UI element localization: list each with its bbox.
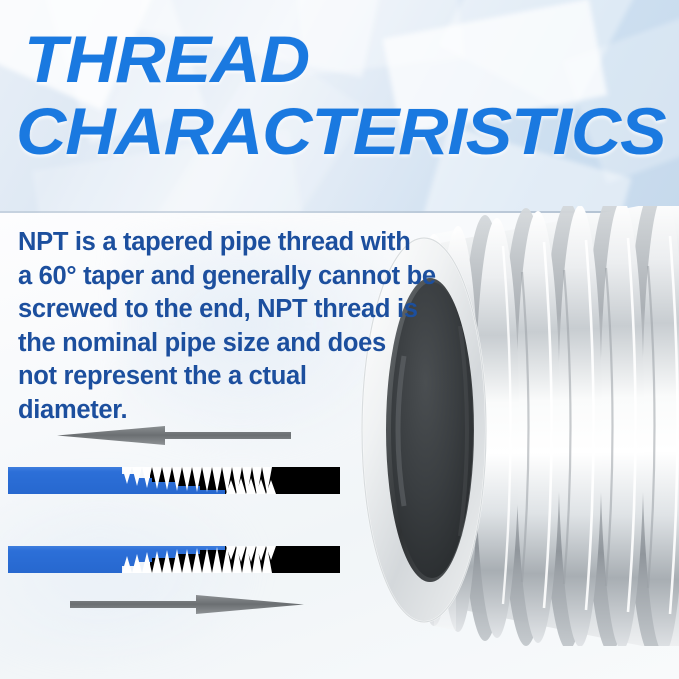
thread-bar-tightened [8,544,340,573]
title-line-thread: THREAD [24,22,309,96]
thread-bar-start [8,467,340,496]
description-line-5: not represent the a ctual [18,360,378,394]
description-line-2: a 60° taper and generally cannot be [18,260,378,294]
arrow-left-icon [57,426,291,445]
description-line-1: NPT is a tapered pipe thread with [18,226,378,260]
description-paragraph: NPT is a tapered pipe thread with a 60° … [18,226,378,427]
arrow-right-icon [70,595,304,614]
description-line-3: screwed to the end, NPT thread is [18,293,378,327]
thread-characteristics-infographic: THREAD CHARACTERISTICS [0,0,679,679]
page-title: THREAD CHARACTERISTICS [0,0,679,213]
title-line-characteristics: CHARACTERISTICS [16,94,666,168]
thread-engagement-diagram [0,418,360,628]
description-line-4: the nominal pipe size and does [18,327,378,361]
